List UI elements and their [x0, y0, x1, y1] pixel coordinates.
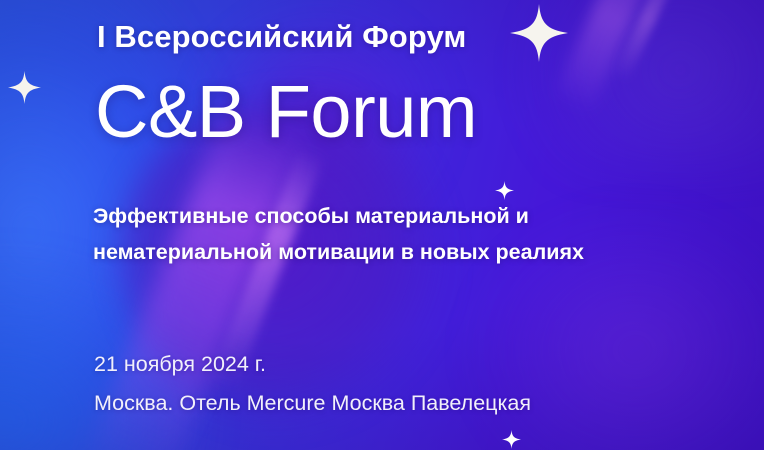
- event-date: 21 ноября 2024 г.: [94, 345, 531, 384]
- sparkle-star-left-icon: [8, 71, 41, 104]
- event-subtitle-line-2: нематериальной мотивации в новых реалиях: [93, 234, 584, 270]
- event-venue: Москва. Отель Mercure Москва Павелецкая: [94, 384, 531, 423]
- event-meta: 21 ноября 2024 г. Москва. Отель Mercure …: [94, 345, 531, 423]
- event-title: C&B Forum: [95, 75, 477, 149]
- event-promo-banner: I Всероссийский Форум C&B Forum Эффектив…: [0, 0, 764, 450]
- event-kicker: I Всероссийский Форум: [97, 19, 466, 55]
- event-subtitle-line-1: Эффективные способы материальной и: [93, 198, 584, 234]
- event-subtitle: Эффективные способы материальной и немат…: [93, 198, 584, 270]
- banner-text-block: I Всероссийский Форум C&B Forum Эффектив…: [93, 0, 733, 450]
